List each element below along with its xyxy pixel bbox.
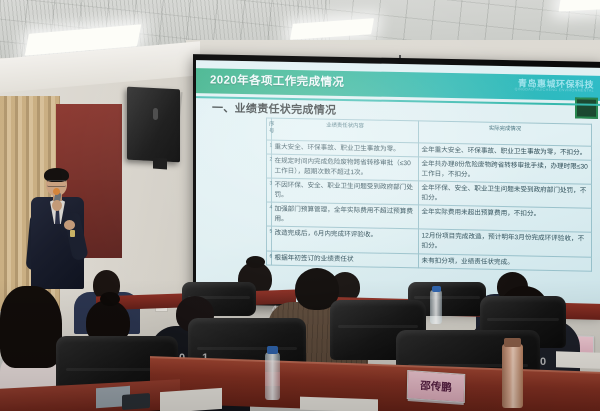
- cell-result: 全年共办理8份危险废物跨省转移审批手续，办理时限≤30工作日，不扣分。: [419, 157, 592, 184]
- chair-number-right: 0: [540, 356, 553, 368]
- presenter-hand-right: [64, 220, 75, 230]
- document-front-center: [300, 397, 378, 411]
- microphone-head: [53, 188, 60, 195]
- cell-result: 全年环保、安全、职业卫生问题未受到政府部门处罚，不扣分。: [419, 181, 592, 208]
- section-heading: 一、业绩责任状完成情况: [212, 99, 336, 117]
- cell-result: 全年实际费用未超出预算费用，不扣分。: [419, 205, 592, 232]
- document-front-left: [160, 388, 222, 411]
- speaker-mount-bracket: [153, 158, 167, 170]
- presenter-lapel-badge: [70, 230, 75, 237]
- cell-content: 根据年初签订的业绩责任状: [272, 251, 419, 268]
- thermos-flask: [502, 344, 523, 408]
- cell-content: 加强部门预算管理，全年实际费用不超过预算费用。: [272, 202, 419, 229]
- water-bottle-cap-back: [432, 286, 441, 292]
- audience-hair-knot: [246, 256, 265, 268]
- audience-hair-front-left: [0, 286, 62, 368]
- cell-result: 未有扣分项，业绩责任状完成。: [419, 253, 592, 271]
- slide-title: 2020年各项工作完成情况: [210, 71, 344, 90]
- thermos-cap: [504, 338, 521, 347]
- cell-content: 不因环保、安全、职业卫生问题受到政府部门处罚。: [272, 178, 419, 205]
- table-header-content: 业绩责任状内容: [272, 118, 419, 142]
- table-header-index: 序号: [267, 118, 272, 140]
- wall-speaker-icon: [127, 87, 180, 163]
- presenter-glasses-icon: [47, 180, 66, 187]
- nameplate-3: 邵传鹏: [407, 370, 465, 403]
- company-logo-mark-icon: [575, 97, 598, 118]
- audience-ponytail: [100, 292, 120, 306]
- conference-room-photo: 2020年各项工作完成情况 青岛惠城环保科技 QINGDAO HUICHENG …: [0, 0, 600, 411]
- document-right: [556, 351, 600, 369]
- speaker-driver: [153, 108, 158, 120]
- cell-content: 改造完成后，6月内完成环评验收。: [272, 227, 419, 254]
- cell-result: 12月份项目完成改造，预计明年3月份完成环评验收，不扣分。: [419, 229, 592, 256]
- presenter-hand-left: [52, 200, 62, 211]
- water-bottle-back: [430, 290, 442, 324]
- water-bottle-front: [265, 352, 280, 400]
- cell-content: 在规定时间内完成危险废物跨省转移审批（≤30工作日），超期次数不超过1次。: [272, 154, 419, 181]
- performance-table: 序号 业绩责任状内容 实际完成情况 1 重大安全、环保事故、职业卫生事故为零。 …: [266, 117, 592, 271]
- smartphone: [122, 393, 150, 410]
- water-bottle-cap-front: [267, 346, 278, 354]
